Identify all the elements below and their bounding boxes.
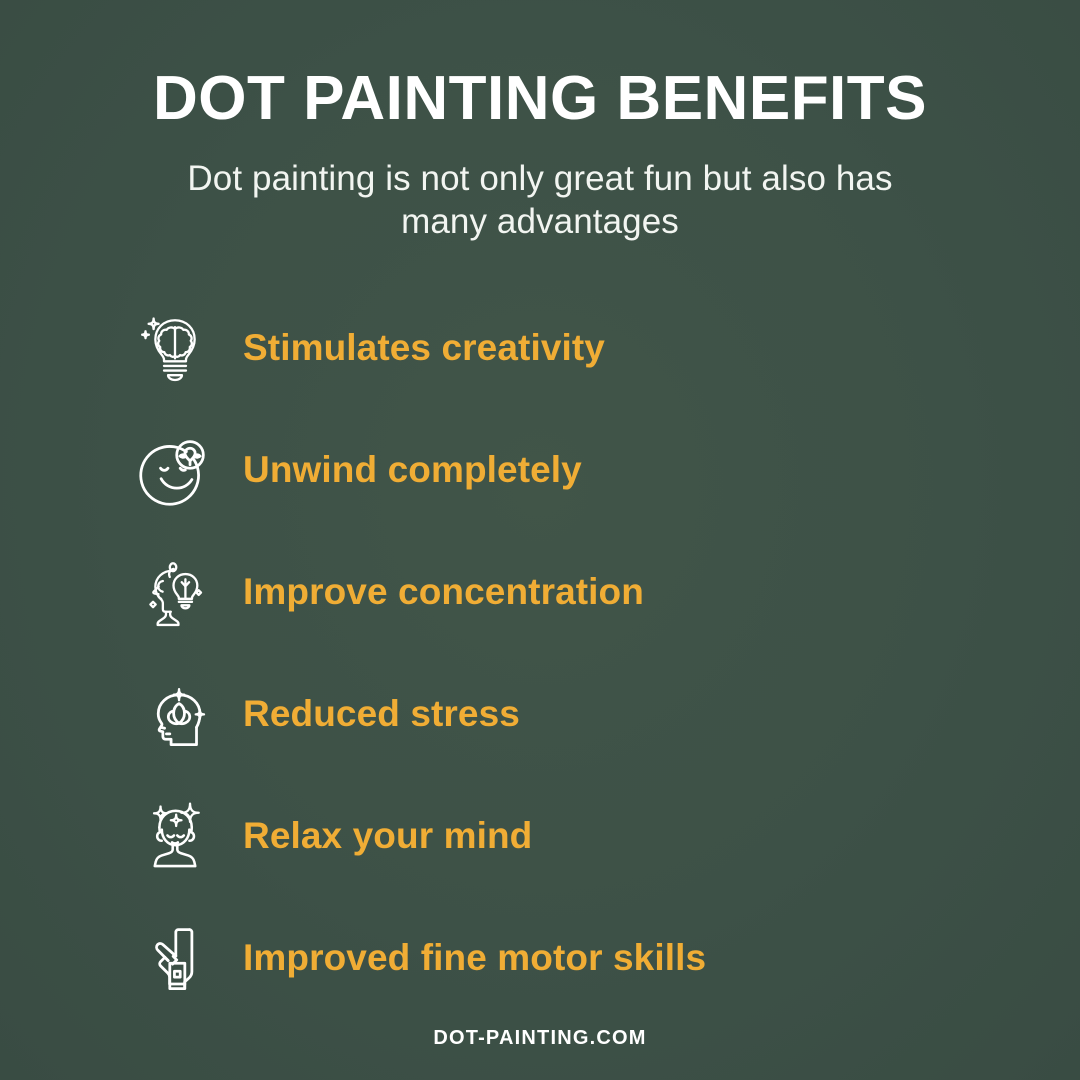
website-url: DOT-PAINTING.COM — [433, 1027, 646, 1049]
list-item-label: Relax your mind — [243, 815, 532, 857]
list-item: Unwind completely — [136, 409, 1080, 531]
infographic-poster: DOT PAINTING BENEFITS Dot painting is no… — [0, 0, 1080, 1080]
footer: DOT-PAINTING.COM — [0, 1027, 1080, 1050]
hand-holding-pencil-icon — [136, 919, 214, 997]
page-title: DOT PAINTING BENEFITS — [0, 66, 1080, 131]
list-item-label: Improved fine motor skills — [243, 937, 706, 979]
relaxed-face-sparkles-icon — [136, 797, 214, 875]
list-item: Improve concentration — [136, 531, 1080, 653]
list-item-label: Unwind completely — [243, 449, 582, 491]
list-item: Stimulates creativity — [136, 287, 1080, 409]
poster-header: DOT PAINTING BENEFITS Dot painting is no… — [0, 0, 1080, 243]
list-item-label: Improve concentration — [243, 571, 644, 613]
benefits-list: Stimulates creativity Unwind completely — [0, 287, 1080, 1019]
list-item-label: Reduced stress — [243, 693, 520, 735]
list-item: Relax your mind — [136, 775, 1080, 897]
head-profile-lotus-icon — [136, 675, 214, 753]
list-item: Reduced stress — [136, 653, 1080, 775]
page-subtitle: Dot painting is not only great fun but a… — [145, 157, 935, 243]
list-item: Improved fine motor skills — [136, 897, 1080, 1019]
brain-lightbulb-icon — [136, 309, 214, 387]
head-profile-lightbulb-icon — [136, 553, 214, 631]
smiling-face-flower-icon — [136, 431, 214, 509]
list-item-label: Stimulates creativity — [243, 327, 605, 369]
